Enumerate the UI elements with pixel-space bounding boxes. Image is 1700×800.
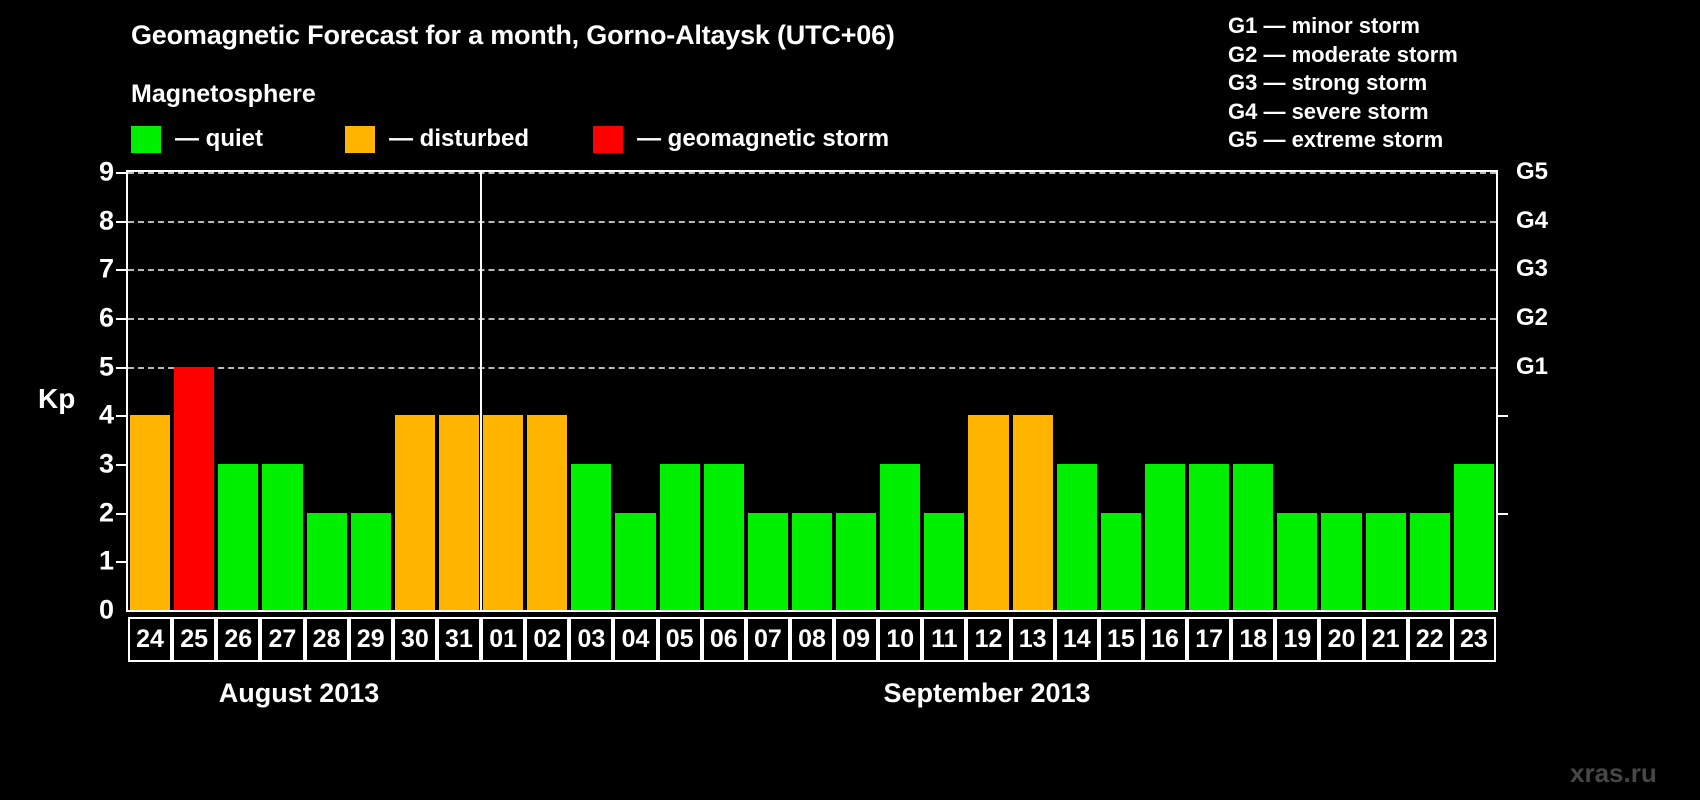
legend-item: — disturbed (345, 124, 529, 154)
bar (439, 415, 479, 610)
bar (218, 464, 258, 610)
bar (174, 367, 214, 610)
date-axis-label: 16 (1143, 617, 1187, 662)
g-axis-tick (1498, 415, 1508, 417)
g-scale-label: G2 (1516, 304, 1548, 332)
y-axis-tick (116, 367, 126, 369)
bar (351, 513, 391, 610)
bar-series (128, 172, 1496, 610)
date-axis-label: 04 (613, 617, 657, 662)
y-axis-tick-label: 7 (74, 254, 114, 285)
y-axis-tick (116, 269, 126, 271)
date-axis-label: 13 (1011, 617, 1055, 662)
plot-area (126, 170, 1498, 612)
storm-scale-legend: G1 — minor stormG2 — moderate stormG3 — … (1228, 12, 1458, 155)
date-axis-label: 08 (790, 617, 834, 662)
date-axis-label: 20 (1319, 617, 1363, 662)
bar (1454, 464, 1494, 610)
bar (836, 513, 876, 610)
g-scale-label: G4 (1516, 207, 1548, 235)
date-axis-label: 28 (305, 617, 349, 662)
y-axis-tick (116, 561, 126, 563)
bar (571, 464, 611, 610)
month-caption: September 2013 (787, 678, 1187, 709)
bar (660, 464, 700, 610)
date-axis-label: 05 (658, 617, 702, 662)
y-axis-tick-label: 1 (74, 546, 114, 577)
date-axis-label: 03 (569, 617, 613, 662)
g-scale-label: G5 (1516, 158, 1548, 186)
y-axis-tick-label: 3 (74, 449, 114, 480)
bar (1366, 513, 1406, 610)
date-axis-label: 24 (128, 617, 172, 662)
bar (395, 415, 435, 610)
legend-item: — geomagnetic storm (593, 124, 889, 154)
y-axis-tick (116, 513, 126, 515)
g-scale-label: G1 (1516, 353, 1548, 381)
date-axis-label: 21 (1364, 617, 1408, 662)
storm-scale-entry: G3 — strong storm (1228, 69, 1458, 98)
legend-item: — quiet (131, 124, 263, 154)
y-axis-tick-label: 5 (74, 351, 114, 382)
y-axis-tick-label: 6 (74, 303, 114, 334)
bar (924, 513, 964, 610)
date-axis-label: 12 (966, 617, 1010, 662)
bar (1013, 415, 1053, 610)
date-axis-label: 11 (922, 617, 966, 662)
date-axis-label: 25 (172, 617, 216, 662)
y-axis-tick-label: 9 (74, 157, 114, 188)
bar (1233, 464, 1273, 610)
y-axis-tick-label: 4 (74, 400, 114, 431)
page-title: Geomagnetic Forecast for a month, Gorno-… (131, 20, 895, 51)
date-axis-label: 14 (1055, 617, 1099, 662)
g-scale-label: G3 (1516, 255, 1548, 283)
bar (615, 513, 655, 610)
watermark: xras.ru (1570, 758, 1657, 789)
date-axis-label: 06 (702, 617, 746, 662)
date-axis-label: 15 (1099, 617, 1143, 662)
bar (792, 513, 832, 610)
bar (704, 464, 744, 610)
bar (1410, 513, 1450, 610)
bar (1189, 464, 1229, 610)
bar (307, 513, 347, 610)
g-axis-tick (1498, 513, 1508, 515)
date-axis-label: 30 (393, 617, 437, 662)
date-axis-label: 26 (216, 617, 260, 662)
date-axis-label: 19 (1275, 617, 1319, 662)
date-axis-label: 10 (878, 617, 922, 662)
month-divider (480, 172, 482, 610)
y-axis-tick-label: 2 (74, 497, 114, 528)
date-axis-label: 23 (1452, 617, 1496, 662)
legend-item-label: — geomagnetic storm (637, 125, 889, 153)
storm-scale-entry: G1 — minor storm (1228, 12, 1458, 41)
y-axis-tick-label: 0 (74, 595, 114, 626)
bar (483, 415, 523, 610)
y-axis-tick-label: 8 (74, 205, 114, 236)
date-axis-label: 31 (437, 617, 481, 662)
bar (1321, 513, 1361, 610)
y-axis-tick (116, 172, 126, 174)
y-axis-tick (116, 221, 126, 223)
legend-item-label: — quiet (175, 125, 263, 153)
bar (1057, 464, 1097, 610)
date-axis-label: 27 (260, 617, 304, 662)
storm-scale-entry: G2 — moderate storm (1228, 41, 1458, 70)
month-caption: August 2013 (99, 678, 499, 709)
date-axis-label: 09 (834, 617, 878, 662)
date-axis-label: 07 (746, 617, 790, 662)
bar (748, 513, 788, 610)
bar (262, 464, 302, 610)
bar (880, 464, 920, 610)
chart-canvas: Geomagnetic Forecast for a month, Gorno-… (0, 0, 1700, 800)
bar (1277, 513, 1317, 610)
date-axis-label: 02 (525, 617, 569, 662)
quiet-swatch (131, 126, 161, 153)
y-axis-tick (116, 318, 126, 320)
storm-swatch (593, 126, 623, 153)
bar (968, 415, 1008, 610)
date-axis-label: 22 (1408, 617, 1452, 662)
bar (130, 415, 170, 610)
bar (1101, 513, 1141, 610)
legend-item-label: — disturbed (389, 125, 529, 153)
y-axis-tick (116, 415, 126, 417)
disturbed-swatch (345, 126, 375, 153)
chart-subtitle: Magnetosphere (131, 80, 316, 109)
date-axis-label: 01 (481, 617, 525, 662)
storm-scale-entry: G5 — extreme storm (1228, 126, 1458, 155)
date-axis-label: 29 (349, 617, 393, 662)
storm-scale-entry: G4 — severe storm (1228, 98, 1458, 127)
bar (1145, 464, 1185, 610)
y-axis-title: Kp (38, 383, 75, 415)
bar (527, 415, 567, 610)
date-axis-label: 17 (1187, 617, 1231, 662)
date-axis: 2425262728293031010203040506070809101112… (126, 617, 1498, 662)
date-axis-label: 18 (1231, 617, 1275, 662)
y-axis-tick (116, 464, 126, 466)
